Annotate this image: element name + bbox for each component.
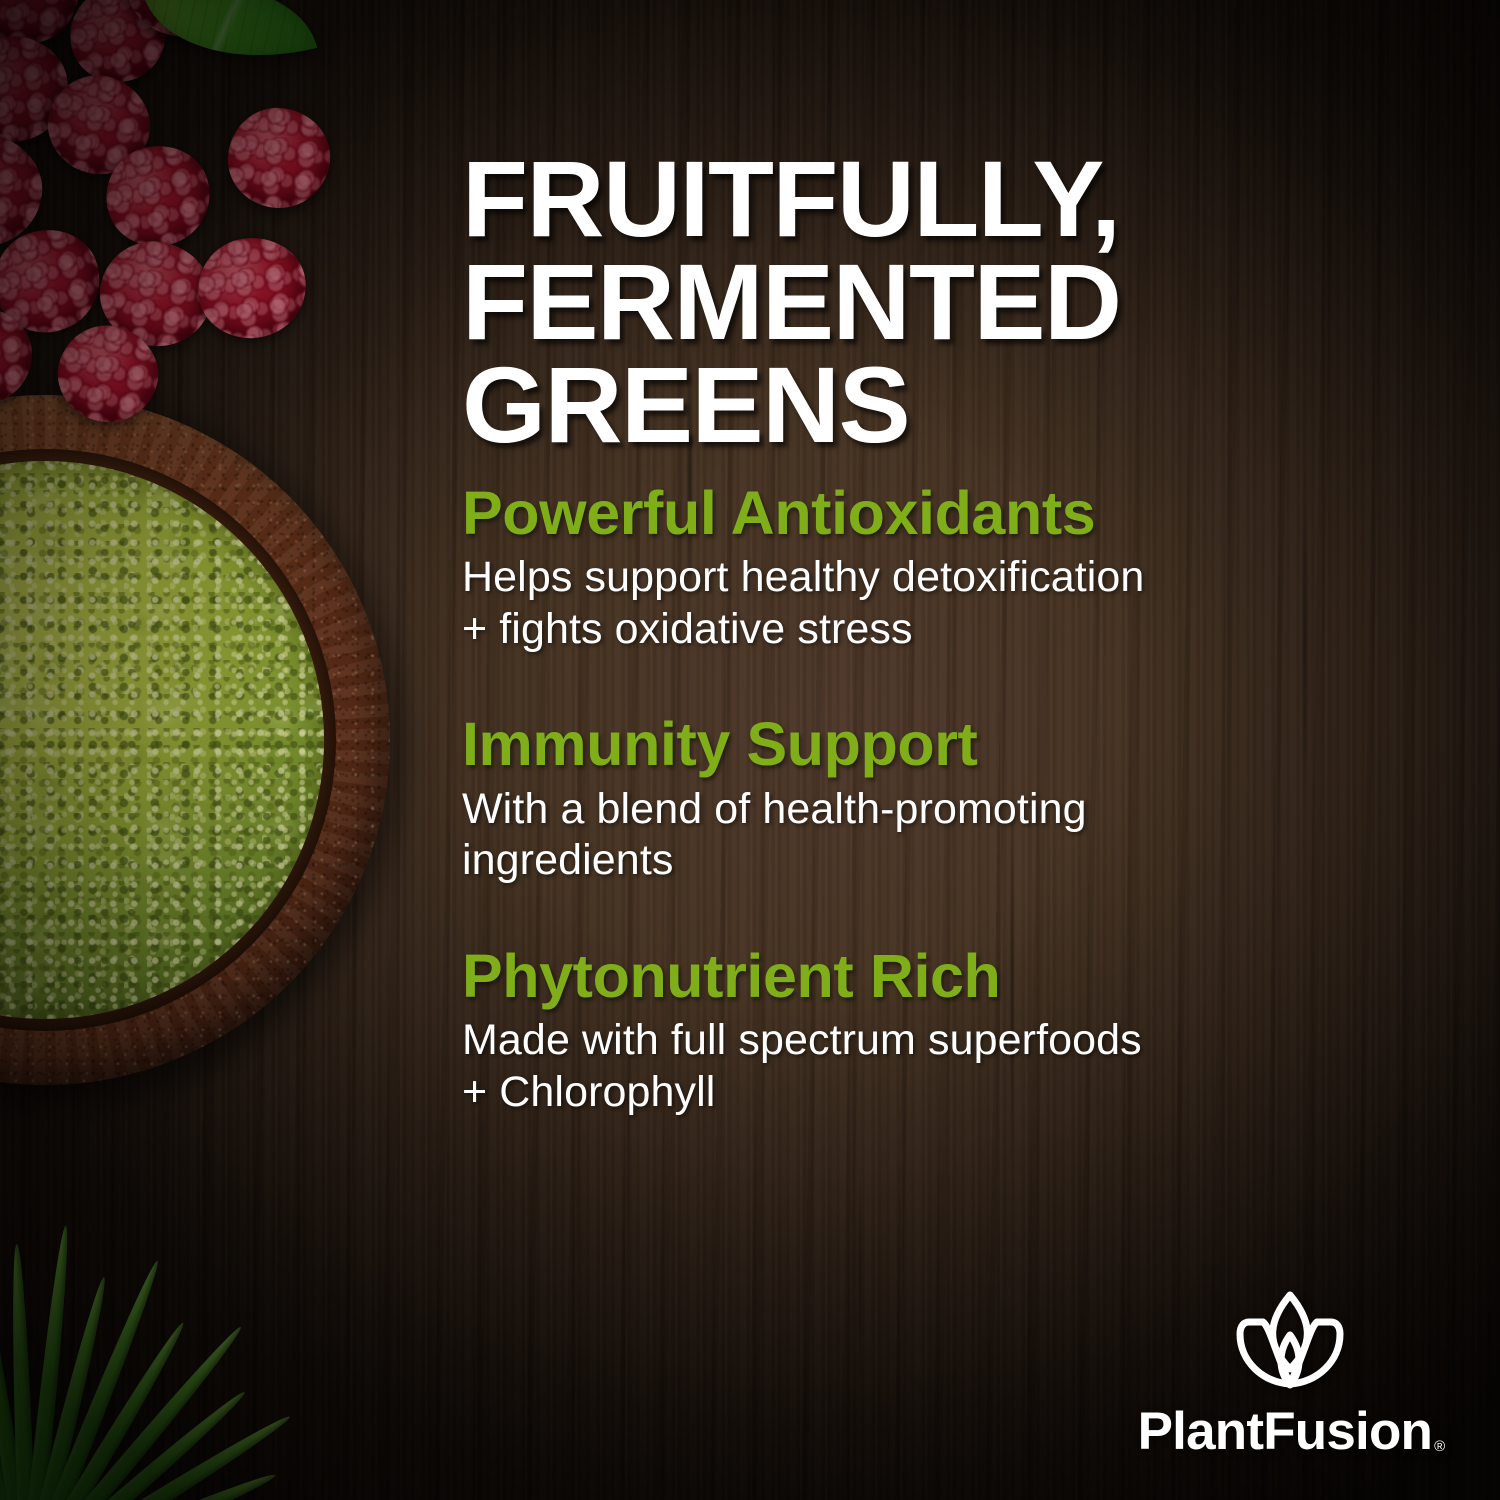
benefit-description-line: With a blend of health-promoting: [462, 784, 1342, 836]
benefit-description-line: ingredients: [462, 835, 1342, 887]
benefit-title: Powerful Antioxidants: [462, 482, 1342, 544]
brand-wordmark: PlantFusion®: [1138, 1405, 1443, 1458]
benefit-description: Helps support healthy detoxification + f…: [462, 552, 1342, 655]
benefit-item-phytonutrient: Phytonutrient Rich Made with full spectr…: [462, 945, 1342, 1118]
benefit-description-line: Helps support healthy detoxification: [462, 552, 1342, 604]
benefit-description-line: + fights oxidative stress: [462, 604, 1342, 656]
brand-name: PlantFusion: [1138, 1402, 1432, 1461]
lotus-flower-icon: [1230, 1289, 1350, 1399]
benefits-list: Powerful Antioxidants Helps support heal…: [462, 482, 1342, 1118]
benefit-item-immunity: Immunity Support With a blend of health-…: [462, 713, 1342, 886]
benefit-title: Phytonutrient Rich: [462, 945, 1342, 1007]
registered-trademark-icon: ®: [1434, 1438, 1444, 1455]
benefit-description-line: Made with full spectrum superfoods: [462, 1015, 1342, 1067]
benefit-description: Made with full spectrum superfoods + Chl…: [462, 1015, 1342, 1118]
headline-line-3: GREENS: [462, 354, 1222, 457]
headline-line-1: FRUITFULLY,: [462, 148, 1222, 251]
benefit-description-line: + Chlorophyll: [462, 1067, 1342, 1119]
brand-logo: PlantFusion®: [1135, 1289, 1445, 1458]
benefit-title: Immunity Support: [462, 713, 1342, 775]
product-benefits-graphic: FRUITFULLY, FERMENTED GREENS Powerful An…: [0, 0, 1500, 1500]
benefit-item-antioxidants: Powerful Antioxidants Helps support heal…: [462, 482, 1342, 655]
headline-line-2: FERMENTED: [462, 251, 1222, 354]
benefit-description: With a blend of health-promoting ingredi…: [462, 784, 1342, 887]
page-title: FRUITFULLY, FERMENTED GREENS: [462, 148, 1222, 456]
